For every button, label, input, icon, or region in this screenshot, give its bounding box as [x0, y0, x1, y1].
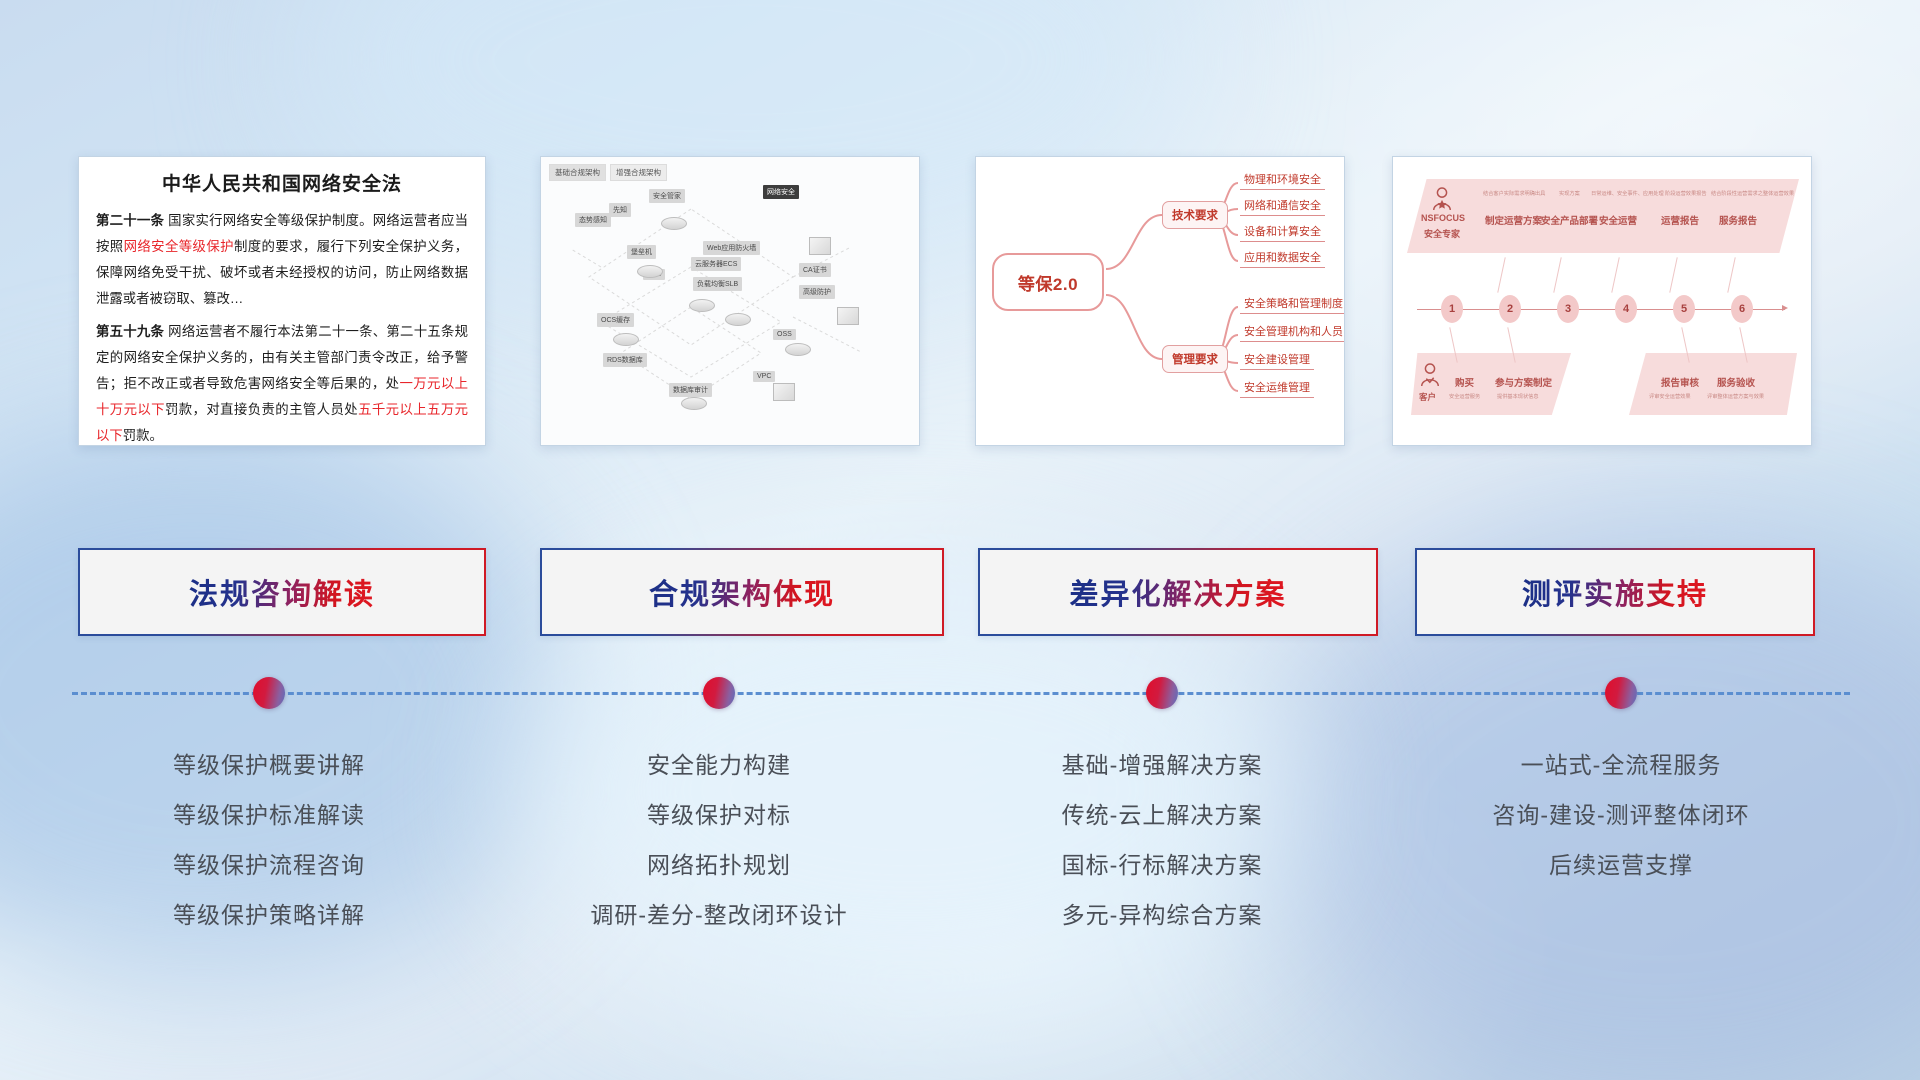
database-icon	[681, 397, 707, 410]
list-item: 基础-增强解决方案	[962, 740, 1362, 790]
arch-label-ecs-cloud: 云服务器ECS	[691, 257, 741, 271]
mindmap-leaf-policy-system: 安全策略和管理制度	[1240, 295, 1345, 314]
bullet-column-3: 基础-增强解决方案 传统-云上解决方案 国标-行标解决方案 多元-异构综合方案	[962, 740, 1362, 940]
process-diagram: NSFOCUS 安全专家 结合客户实际需求明确出具 制定运营方案 实现方案 安全…	[1393, 157, 1811, 445]
process-node-4: 4	[1615, 295, 1637, 323]
section-heading-1[interactable]: 法规咨询解读	[78, 548, 486, 636]
process-node-2: 2	[1499, 295, 1521, 323]
arch-label-advanced-protection: 高级防护	[799, 285, 835, 299]
top-step-title-3: 安全运营	[1599, 213, 1637, 227]
server-icon	[725, 313, 751, 326]
process-connector	[1669, 257, 1677, 292]
top-step-sub-2: 实现方案	[1559, 190, 1580, 197]
top-step-sub-1: 结合客户实际需求明确出具	[1483, 190, 1545, 197]
section-heading-4-label: 测评实施支持	[1522, 571, 1708, 613]
process-bottom-band-right	[1629, 353, 1797, 415]
bullet-column-row: 等级保护概要讲解 等级保护标准解读 等级保护流程咨询 等级保护策略详解 安全能力…	[0, 740, 1920, 970]
mindmap-leaf-org-personnel: 安全管理机构和人员	[1240, 323, 1345, 342]
server-icon	[637, 265, 663, 278]
mindmap-branch-management: 管理要求	[1162, 345, 1228, 373]
mindmap-leaf-app-data: 应用和数据安全	[1240, 249, 1325, 268]
section-heading-3[interactable]: 差异化解决方案	[978, 548, 1378, 636]
architecture-wireframe	[541, 157, 920, 446]
card-nsfocus-process: NSFOCUS 安全专家 结合客户实际需求明确出具 制定运营方案 实现方案 安全…	[1392, 156, 1812, 446]
customer-person-icon	[1419, 363, 1441, 387]
section-heading-row: 法规咨询解读 合规架构体现 差异化解决方案 测评实施支持	[0, 548, 1920, 640]
bottom-step-title-3: 报告审核	[1661, 375, 1699, 389]
bottom-step-title-1: 购买	[1455, 375, 1474, 389]
arch-label-bastion-host: 堡垒机	[627, 245, 656, 259]
mindmap-root-node: 等保2.0	[992, 253, 1104, 311]
mindmap-leaf-device-compute: 设备和计算安全	[1240, 223, 1325, 242]
list-item: 国标-行标解决方案	[962, 840, 1362, 890]
article-21-highlight: 网络安全等级保护	[124, 239, 234, 254]
storage-icon	[785, 343, 811, 356]
section-heading-3-label: 差异化解决方案	[1069, 571, 1286, 613]
process-connector	[1727, 257, 1735, 292]
expert-person-icon	[1431, 187, 1453, 211]
server-icon	[661, 217, 687, 230]
section-heading-1-label: 法规咨询解读	[189, 571, 375, 613]
device-icon	[809, 237, 831, 255]
brand-name: NSFOCUS	[1421, 213, 1465, 223]
bottom-step-sub-3: 评审安全运营效果	[1649, 393, 1691, 400]
arch-label-ca-cert: CA证书	[799, 263, 831, 277]
slide-canvas: 中华人民共和国网络安全法 第二十一条 国家实行网络安全等级保护制度。网络运营者应…	[0, 0, 1920, 1080]
arch-label-db-audit: 数据库审计	[669, 383, 712, 397]
timeline-dot-2[interactable]	[703, 677, 735, 709]
bottom-step-sub-1: 安全运营服务	[1449, 393, 1480, 400]
bottom-step-title-2: 参与方案制定	[1495, 375, 1552, 389]
bullet-column-2: 安全能力构建 等级保护对标 网络拓扑规划 调研-差分-整改闭环设计	[519, 740, 919, 940]
section-heading-4[interactable]: 测评实施支持	[1415, 548, 1815, 636]
list-item: 咨询-建设-测评整体闭环	[1421, 790, 1821, 840]
article-59-text-3: 罚款。	[123, 428, 163, 443]
image-card-row: 中华人民共和国网络安全法 第二十一条 国家实行网络安全等级保护制度。网络运营者应…	[0, 0, 1920, 440]
list-item: 多元-异构综合方案	[962, 890, 1362, 940]
process-axis	[1417, 309, 1785, 310]
list-item: 等级保护概要讲解	[69, 740, 469, 790]
top-step-title-4: 运营报告	[1661, 213, 1699, 227]
database-icon	[613, 333, 639, 346]
process-axis-arrow	[1782, 305, 1788, 311]
list-item: 等级保护策略详解	[69, 890, 469, 940]
arch-label-web-waf: Web应用防火墙	[703, 241, 760, 255]
list-item: 一站式-全流程服务	[1421, 740, 1821, 790]
timeline-dot-4[interactable]	[1605, 677, 1637, 709]
list-item: 安全能力构建	[519, 740, 919, 790]
mindmap-leaf-physical-env: 物理和环境安全	[1240, 171, 1325, 190]
arch-label-network-security: 网络安全	[763, 185, 799, 199]
arch-label-ocs-cache: OCS缓存	[597, 313, 634, 327]
bottom-step-sub-2: 提供基本现状信息	[1497, 393, 1539, 400]
card-compliance-architecture: 基础合规架构 增强合规架构 网络安全 态势感知 先知 安全	[540, 156, 920, 446]
arch-label-foresight: 先知	[609, 203, 631, 217]
device-icon	[837, 307, 859, 325]
timeline	[0, 662, 1920, 722]
process-node-1: 1	[1441, 295, 1463, 323]
brand-subtitle: 安全专家	[1424, 227, 1460, 240]
list-item: 网络拓扑规划	[519, 840, 919, 890]
arch-label-situational-awareness: 态势感知	[575, 213, 611, 227]
top-step-title-2: 安全产品部署	[1541, 213, 1598, 227]
bullet-column-1: 等级保护概要讲解 等级保护标准解读 等级保护流程咨询 等级保护策略详解	[69, 740, 469, 940]
arch-label-slb: 负载均衡SLB	[693, 277, 742, 291]
customer-label: 客户	[1419, 391, 1436, 403]
timeline-dot-1[interactable]	[253, 677, 285, 709]
card-cybersecurity-law: 中华人民共和国网络安全法 第二十一条 国家实行网络安全等级保护制度。网络运营者应…	[78, 156, 486, 446]
list-item: 调研-差分-整改闭环设计	[519, 890, 919, 940]
process-node-6: 6	[1731, 295, 1753, 323]
mindmap-diagram: 等保2.0 技术要求 管理要求 物理和环境安全 网络和通信安全 设备和计算安全 …	[976, 157, 1344, 445]
list-item: 等级保护流程咨询	[69, 840, 469, 890]
mindmap-branch-technical: 技术要求	[1162, 201, 1228, 229]
mindmap-leaf-ops-mgmt: 安全运维管理	[1240, 379, 1314, 398]
law-document: 中华人民共和国网络安全法 第二十一条 国家实行网络安全等级保护制度。网络运营者应…	[79, 157, 485, 446]
process-connector	[1553, 257, 1561, 292]
bullet-column-4: 一站式-全流程服务 咨询-建设-测评整体闭环 后续运营支撑	[1421, 740, 1821, 890]
top-step-title-5: 服务报告	[1719, 213, 1757, 227]
list-item: 等级保护对标	[519, 790, 919, 840]
architecture-diagram: 基础合规架构 增强合规架构 网络安全 态势感知 先知 安全	[541, 157, 919, 445]
article-59-label: 第五十九条	[96, 324, 164, 339]
arch-label-security-butler: 安全管家	[649, 189, 685, 203]
list-item: 传统-云上解决方案	[962, 790, 1362, 840]
law-article-21: 第二十一条 国家实行网络安全等级保护制度。网络运营者应当按照网络安全等级保护制度…	[96, 208, 468, 312]
top-step-sub-5: 结合阶段性运营需求之整体运营效果	[1711, 190, 1794, 197]
arch-label-rds: RDS数据库	[603, 353, 647, 367]
mindmap-leaf-construction-mgmt: 安全建设管理	[1240, 351, 1314, 370]
law-title: 中华人民共和国网络安全法	[96, 169, 468, 196]
process-node-5: 5	[1673, 295, 1695, 323]
section-heading-2-label: 合规架构体现	[649, 571, 835, 613]
bottom-step-title-4: 服务验收	[1717, 375, 1755, 389]
arch-label-oss: OSS	[773, 329, 796, 340]
process-connector	[1497, 257, 1505, 292]
bottom-step-sub-4: 评审整体运营方案与效果	[1707, 393, 1764, 400]
server-icon	[689, 299, 715, 312]
article-21-label: 第二十一条	[96, 213, 164, 228]
article-59-text-2: 罚款，对直接负责的主管人员处	[165, 402, 358, 417]
list-item: 后续运营支撑	[1421, 840, 1821, 890]
process-node-3: 3	[1557, 295, 1579, 323]
mindmap-leaf-network-comm: 网络和通信安全	[1240, 197, 1325, 216]
top-step-sub-4: 阶段运营效果报告	[1665, 190, 1707, 197]
device-icon	[773, 383, 795, 401]
timeline-dashed-line	[72, 692, 1850, 695]
process-connector	[1611, 257, 1619, 292]
law-article-59: 第五十九条 网络运营者不履行本法第二十一条、第二十五条规定的网络安全保护义务的，…	[96, 319, 468, 446]
timeline-dot-3[interactable]	[1146, 677, 1178, 709]
list-item: 等级保护标准解读	[69, 790, 469, 840]
arch-label-vpc: VPC	[753, 371, 775, 382]
card-dengbao-mindmap: 等保2.0 技术要求 管理要求 物理和环境安全 网络和通信安全 设备和计算安全 …	[975, 156, 1345, 446]
section-heading-2[interactable]: 合规架构体现	[540, 548, 944, 636]
top-step-title-1: 制定运营方案	[1485, 213, 1542, 227]
top-step-sub-3: 日常运维、安全事件、应用处理	[1591, 190, 1664, 197]
